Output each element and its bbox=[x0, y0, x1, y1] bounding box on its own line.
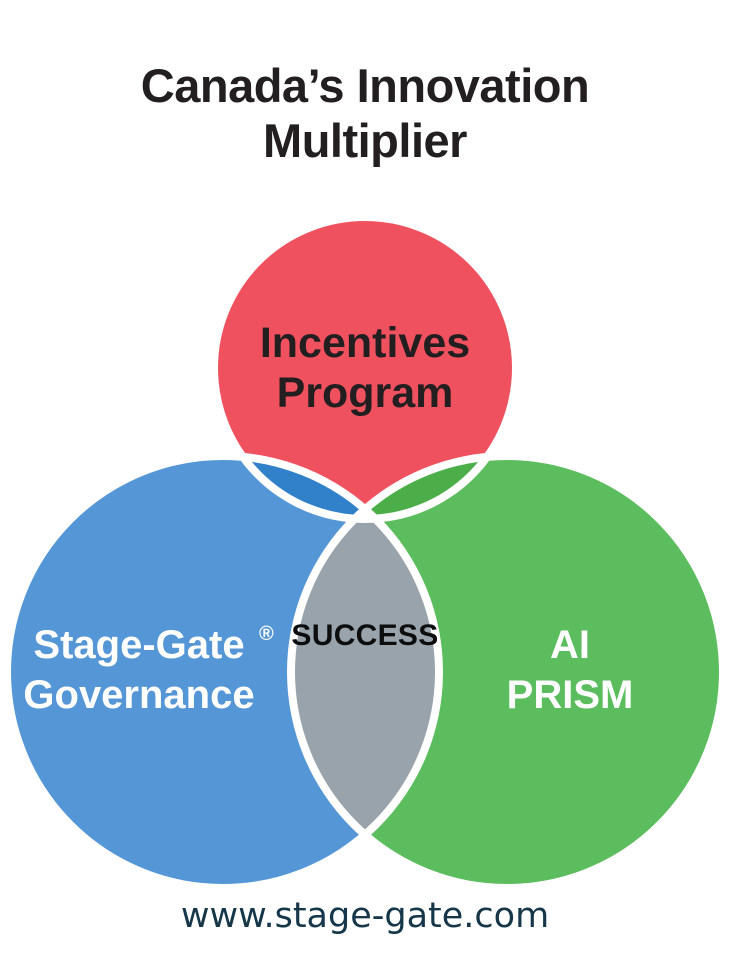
label-incentives-line-2: Program bbox=[277, 369, 454, 417]
website-url[interactable]: www.stage-gate.com bbox=[0, 896, 730, 936]
label-success-center: SUCCESS bbox=[291, 619, 438, 652]
registered-trademark-icon: ® bbox=[259, 623, 274, 645]
infographic-canvas: Canada’s Innovation Multiplier bbox=[0, 0, 730, 968]
venn-diagram: Incentives Program Stage-Gate ® Governan… bbox=[0, 0, 730, 968]
label-aiprism-line-1: AI bbox=[550, 623, 590, 667]
label-incentives-line-1: Incentives bbox=[260, 319, 470, 367]
label-governance-line-2: Governance bbox=[23, 673, 254, 717]
venn-regions bbox=[0, 0, 730, 968]
label-aiprism-line-2: PRISM bbox=[507, 673, 634, 717]
venn-svg: Incentives Program Stage-Gate ® Governan… bbox=[0, 0, 730, 968]
label-governance-line-1: Stage-Gate bbox=[33, 623, 244, 667]
